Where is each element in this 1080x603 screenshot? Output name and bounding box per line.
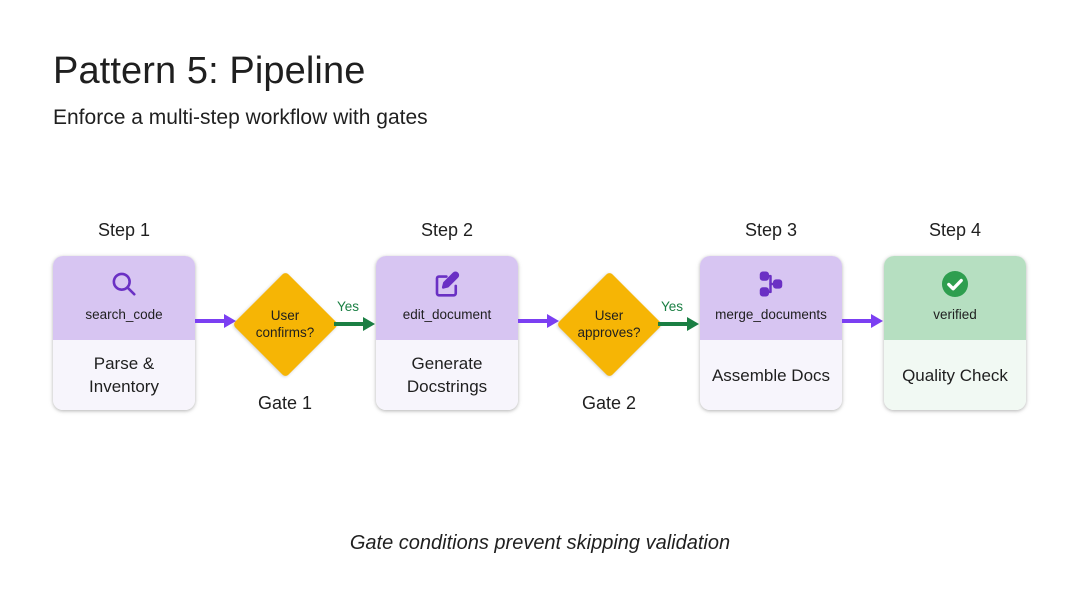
arrow-step1-to-gate1 (195, 310, 237, 332)
arrow-gate2-to-step3 (658, 313, 700, 335)
step-card-3-description: Assemble Docs (700, 340, 842, 410)
gate-1[interactable]: User confirms? (232, 271, 338, 377)
step-card-4-tool: verified (933, 307, 977, 323)
gate-1-line1: User (271, 307, 300, 324)
step-card-2[interactable]: edit_document Generate Docstrings (376, 256, 518, 410)
step-card-2-description: Generate Docstrings (376, 340, 518, 410)
arrow-gate1-to-step2 (334, 313, 376, 335)
pipeline-diagram: Step 1 Step 2 Step 3 Step 4 search_code … (0, 0, 1080, 603)
step-card-1-tool: search_code (85, 307, 162, 323)
gate-2[interactable]: User approves? (556, 271, 662, 377)
check-circle-icon (938, 267, 972, 301)
gate-2-text: User approves? (556, 271, 662, 377)
gate-2-line2: approves? (577, 324, 640, 341)
arrow-step2-to-gate2 (518, 310, 560, 332)
step-card-1-header: search_code (53, 256, 195, 340)
gate-2-caption: Gate 2 (556, 392, 662, 414)
gate-2-line1: User (595, 307, 624, 324)
edit-document-icon (432, 267, 462, 301)
merge-tree-icon (756, 267, 786, 301)
step-card-4-description: Quality Check (884, 340, 1026, 410)
gate-1-text: User confirms? (232, 271, 338, 377)
step-card-4-header: verified (884, 256, 1026, 340)
step-card-3[interactable]: merge_documents Assemble Docs (700, 256, 842, 410)
footer-note: Gate conditions prevent skipping validat… (0, 530, 1080, 556)
step-card-3-tool: merge_documents (715, 307, 827, 323)
step-label-2: Step 2 (376, 219, 518, 241)
arrow-step3-to-step4 (842, 310, 884, 332)
step-card-1[interactable]: search_code Parse & Inventory (53, 256, 195, 410)
step-card-3-header: merge_documents (700, 256, 842, 340)
magnifier-icon (109, 267, 139, 301)
step-card-4[interactable]: verified Quality Check (884, 256, 1026, 410)
step-card-1-description: Parse & Inventory (53, 340, 195, 410)
step-label-4: Step 4 (884, 219, 1026, 241)
step-card-2-tool: edit_document (403, 307, 492, 323)
gate-1-line2: confirms? (256, 324, 315, 341)
step-label-3: Step 3 (700, 219, 842, 241)
step-card-2-header: edit_document (376, 256, 518, 340)
step-label-1: Step 1 (53, 219, 195, 241)
gate-1-caption: Gate 1 (232, 392, 338, 414)
